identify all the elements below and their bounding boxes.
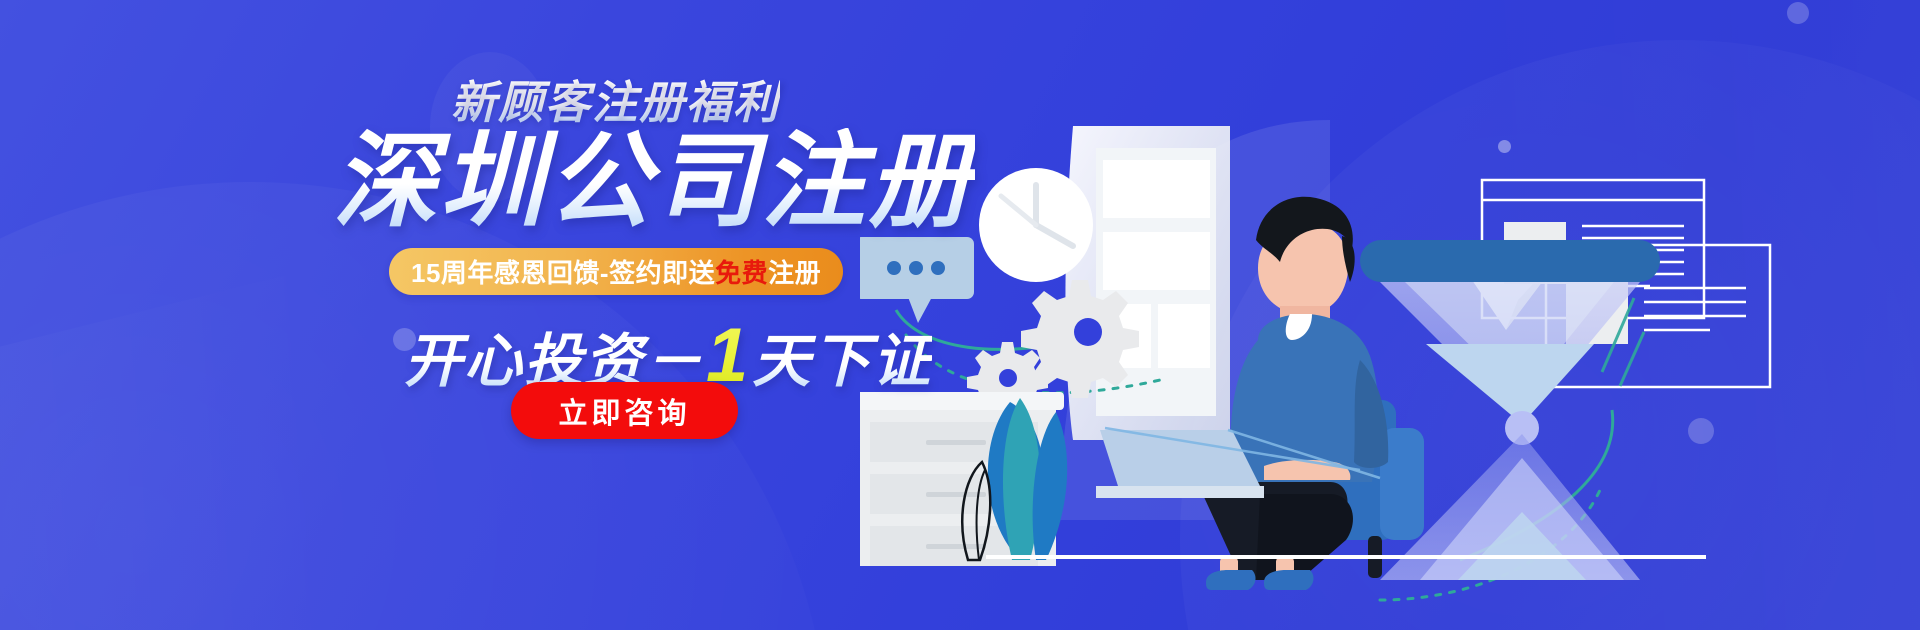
- subline-tail: 天下证: [752, 329, 932, 394]
- banner-copy: 新顾客注册福利 深圳公司注册 15周年感恩回馈-签约即送免费注册 开心投资－1天…: [0, 0, 960, 630]
- badge-highlight: 免费: [715, 253, 768, 290]
- badge-suffix: 注册: [768, 253, 821, 290]
- hero-illustration: [860, 0, 1920, 630]
- anniversary-badge: 15周年感恩回馈-签约即送免费注册: [389, 248, 843, 295]
- page-title: 深圳公司注册: [333, 128, 975, 236]
- promo-banner: 新顾客注册福利 深圳公司注册 15周年感恩回馈-签约即送免费注册 开心投资－1天…: [0, 0, 1920, 630]
- consult-now-button[interactable]: 立即咨询: [511, 382, 738, 439]
- eyebrow-text: 新顾客注册福利: [451, 66, 780, 131]
- badge-prefix: 15周年感恩回馈-签约即送: [411, 253, 715, 290]
- wall-clock-icon: [979, 168, 1093, 282]
- window-icon: [1065, 126, 1230, 440]
